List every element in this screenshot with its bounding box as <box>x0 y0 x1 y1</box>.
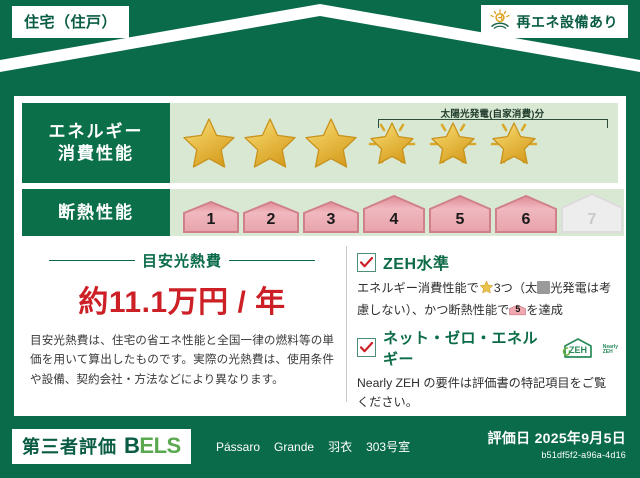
energy-label-line2: 消費性能 <box>58 143 134 165</box>
property-room: 303号室 <box>366 438 410 455</box>
evaluation-info: 評価日 2025年9月5日 b51df5f2-a96a-4d16 <box>487 428 626 460</box>
property-info: Pássaro Grande 羽衣 303号室 <box>216 438 410 455</box>
sun-icon <box>489 9 511 34</box>
star-icon <box>180 115 238 171</box>
insulation-grades-area: 1 2 3 <box>170 189 624 236</box>
zeh-standard-body: エネルギー消費性能で3つ（太光発電は考慮しない）、かつ断熱性能で5を達成 <box>357 279 618 321</box>
energy-stars-area: 太陽光発電(自家消費)分 <box>170 103 618 183</box>
grade-badge: 3 <box>302 201 360 233</box>
label-title: 建築物省エネ法に基づく 省エネ性能ラベル <box>0 36 640 93</box>
grade-value: 7 <box>560 211 624 229</box>
evaluation-date-value: 2025年9月5日 <box>535 430 626 446</box>
heading-rule-left <box>49 260 135 262</box>
star-icon <box>241 115 299 171</box>
grade-badge-unachieved: 7 <box>560 193 624 233</box>
zeh-body-text-4: を達成 <box>526 303 563 317</box>
title-subtitle: 建築物省エネ法に基づく <box>0 36 640 55</box>
energy-performance-row: エネルギー 消費性能 太陽光発電(自家消費)分 <box>22 103 618 183</box>
utility-cost-description: 目安光熱費は、住宅の省エネ性能と全国一律の燃料等の単価を用いて算出したものです。… <box>22 331 342 389</box>
insulation-label-text: 断熱性能 <box>58 202 134 224</box>
insulation-performance-row: 断熱性能 1 <box>22 189 618 236</box>
grade-value: 5 <box>428 211 492 229</box>
grade-badge-inline: 5 <box>509 302 526 318</box>
insulation-performance-label: 断熱性能 <box>22 189 170 236</box>
grade-value: 3 <box>302 211 360 229</box>
star-icon-solar <box>363 115 421 171</box>
utility-cost-heading: 目安光熱費 <box>22 250 342 271</box>
insulation-grade-scale: 1 2 3 <box>170 193 624 233</box>
zeh-logo-sub2: ZEH <box>603 350 618 355</box>
grade-value: 6 <box>494 211 558 229</box>
star-icon-solar <box>485 115 543 171</box>
bels-letters-els: ELS <box>139 433 180 458</box>
property-name-3: 羽衣 <box>328 438 352 455</box>
energy-label-line1: エネルギー <box>49 121 144 143</box>
star-icon-solar <box>424 115 482 171</box>
building-type-badge: 住宅（住戸） <box>12 6 129 38</box>
zeh-body-text-1: エネルギー消費性能で <box>357 281 479 295</box>
zeh-netzero-title: ネット・ゼロ・エネルギー <box>383 327 551 369</box>
property-name-2: Grande <box>274 440 314 454</box>
column-divider <box>346 246 347 402</box>
grade-badge: 1 <box>182 201 240 233</box>
zeh-netzero-heading: ネット・ゼロ・エネルギー ZEH Nearly ZEH <box>357 327 618 369</box>
checkmark-icon <box>357 338 376 357</box>
zeh-logo-icon: ZEH Nearly ZEH <box>561 337 618 359</box>
star-icon-inline <box>479 280 494 301</box>
renewable-badge-label: 再エネ設備あり <box>517 12 619 32</box>
evaluation-date-label: 評価日 <box>487 430 530 446</box>
grade-value: 4 <box>362 211 426 229</box>
evaluation-id: b51df5f2-a96a-4d16 <box>487 450 626 460</box>
heading-rule-right <box>229 260 315 262</box>
zeh-section: ZEH水準 エネルギー消費性能で3つ（太光発電は考慮しない）、かつ断熱性能で5を… <box>357 242 618 408</box>
title-main: 省エネ性能ラベル <box>0 58 640 93</box>
utility-cost-section: 目安光熱費 約11.1万円 / 年 目安光熱費は、住宅の省エネ性能と全国一律の燃… <box>22 242 342 408</box>
energy-star-rating <box>170 115 543 171</box>
energy-performance-label: エネルギー 消費性能 <box>22 103 170 183</box>
bels-jp-text: 第三者評価 <box>22 433 117 459</box>
svg-text:ZEH: ZEH <box>569 345 587 355</box>
star-icon <box>302 115 360 171</box>
grade-value: 5 <box>509 302 526 317</box>
label-footer: 第三者評価 BELS Pássaro Grande 羽衣 303号室 評価日 2… <box>0 418 640 478</box>
redacted-character <box>537 281 550 294</box>
utility-cost-value: 約11.1万円 / 年 <box>22 277 342 321</box>
checkmark-icon <box>357 253 376 272</box>
zeh-netzero-block: ネット・ゼロ・エネルギー ZEH Nearly ZEH <box>357 327 618 414</box>
label-body-panel: エネルギー 消費性能 太陽光発電(自家消費)分 <box>14 96 626 416</box>
evaluation-date: 評価日 2025年9月5日 <box>487 428 626 448</box>
bels-logo: 第三者評価 BELS <box>12 429 191 464</box>
grade-badge: 6 <box>494 195 558 233</box>
zeh-body-text-2: 3つ（太 <box>494 281 537 295</box>
renewable-energy-badge: 再エネ設備あり <box>481 5 629 38</box>
utility-cost-heading-text: 目安光熱費 <box>142 250 222 271</box>
zeh-netzero-body: Nearly ZEH の要件は評価書の特記項目をご覧ください。 <box>357 374 618 414</box>
bels-energy-label: 住宅（住戸） 再エネ設備あり 建築物省エネ法に基づく 省エネ性能ラベル <box>0 0 640 478</box>
grade-value: 2 <box>242 211 300 229</box>
zeh-standard-title: ZEH水準 <box>383 250 450 274</box>
zeh-standard-heading: ZEH水準 <box>357 250 618 274</box>
zeh-standard-block: ZEH水準 エネルギー消費性能で3つ（太光発電は考慮しない）、かつ断熱性能で5を… <box>357 250 618 321</box>
grade-badge: 5 <box>428 195 492 233</box>
grade-badge: 2 <box>242 201 300 233</box>
bels-letter-b: B <box>124 433 139 458</box>
grade-value: 1 <box>182 211 240 229</box>
property-name-1: Pássaro <box>216 440 260 454</box>
grade-badge: 4 <box>362 195 426 233</box>
lower-content: 目安光熱費 約11.1万円 / 年 目安光熱費は、住宅の省エネ性能と全国一律の燃… <box>22 242 618 408</box>
